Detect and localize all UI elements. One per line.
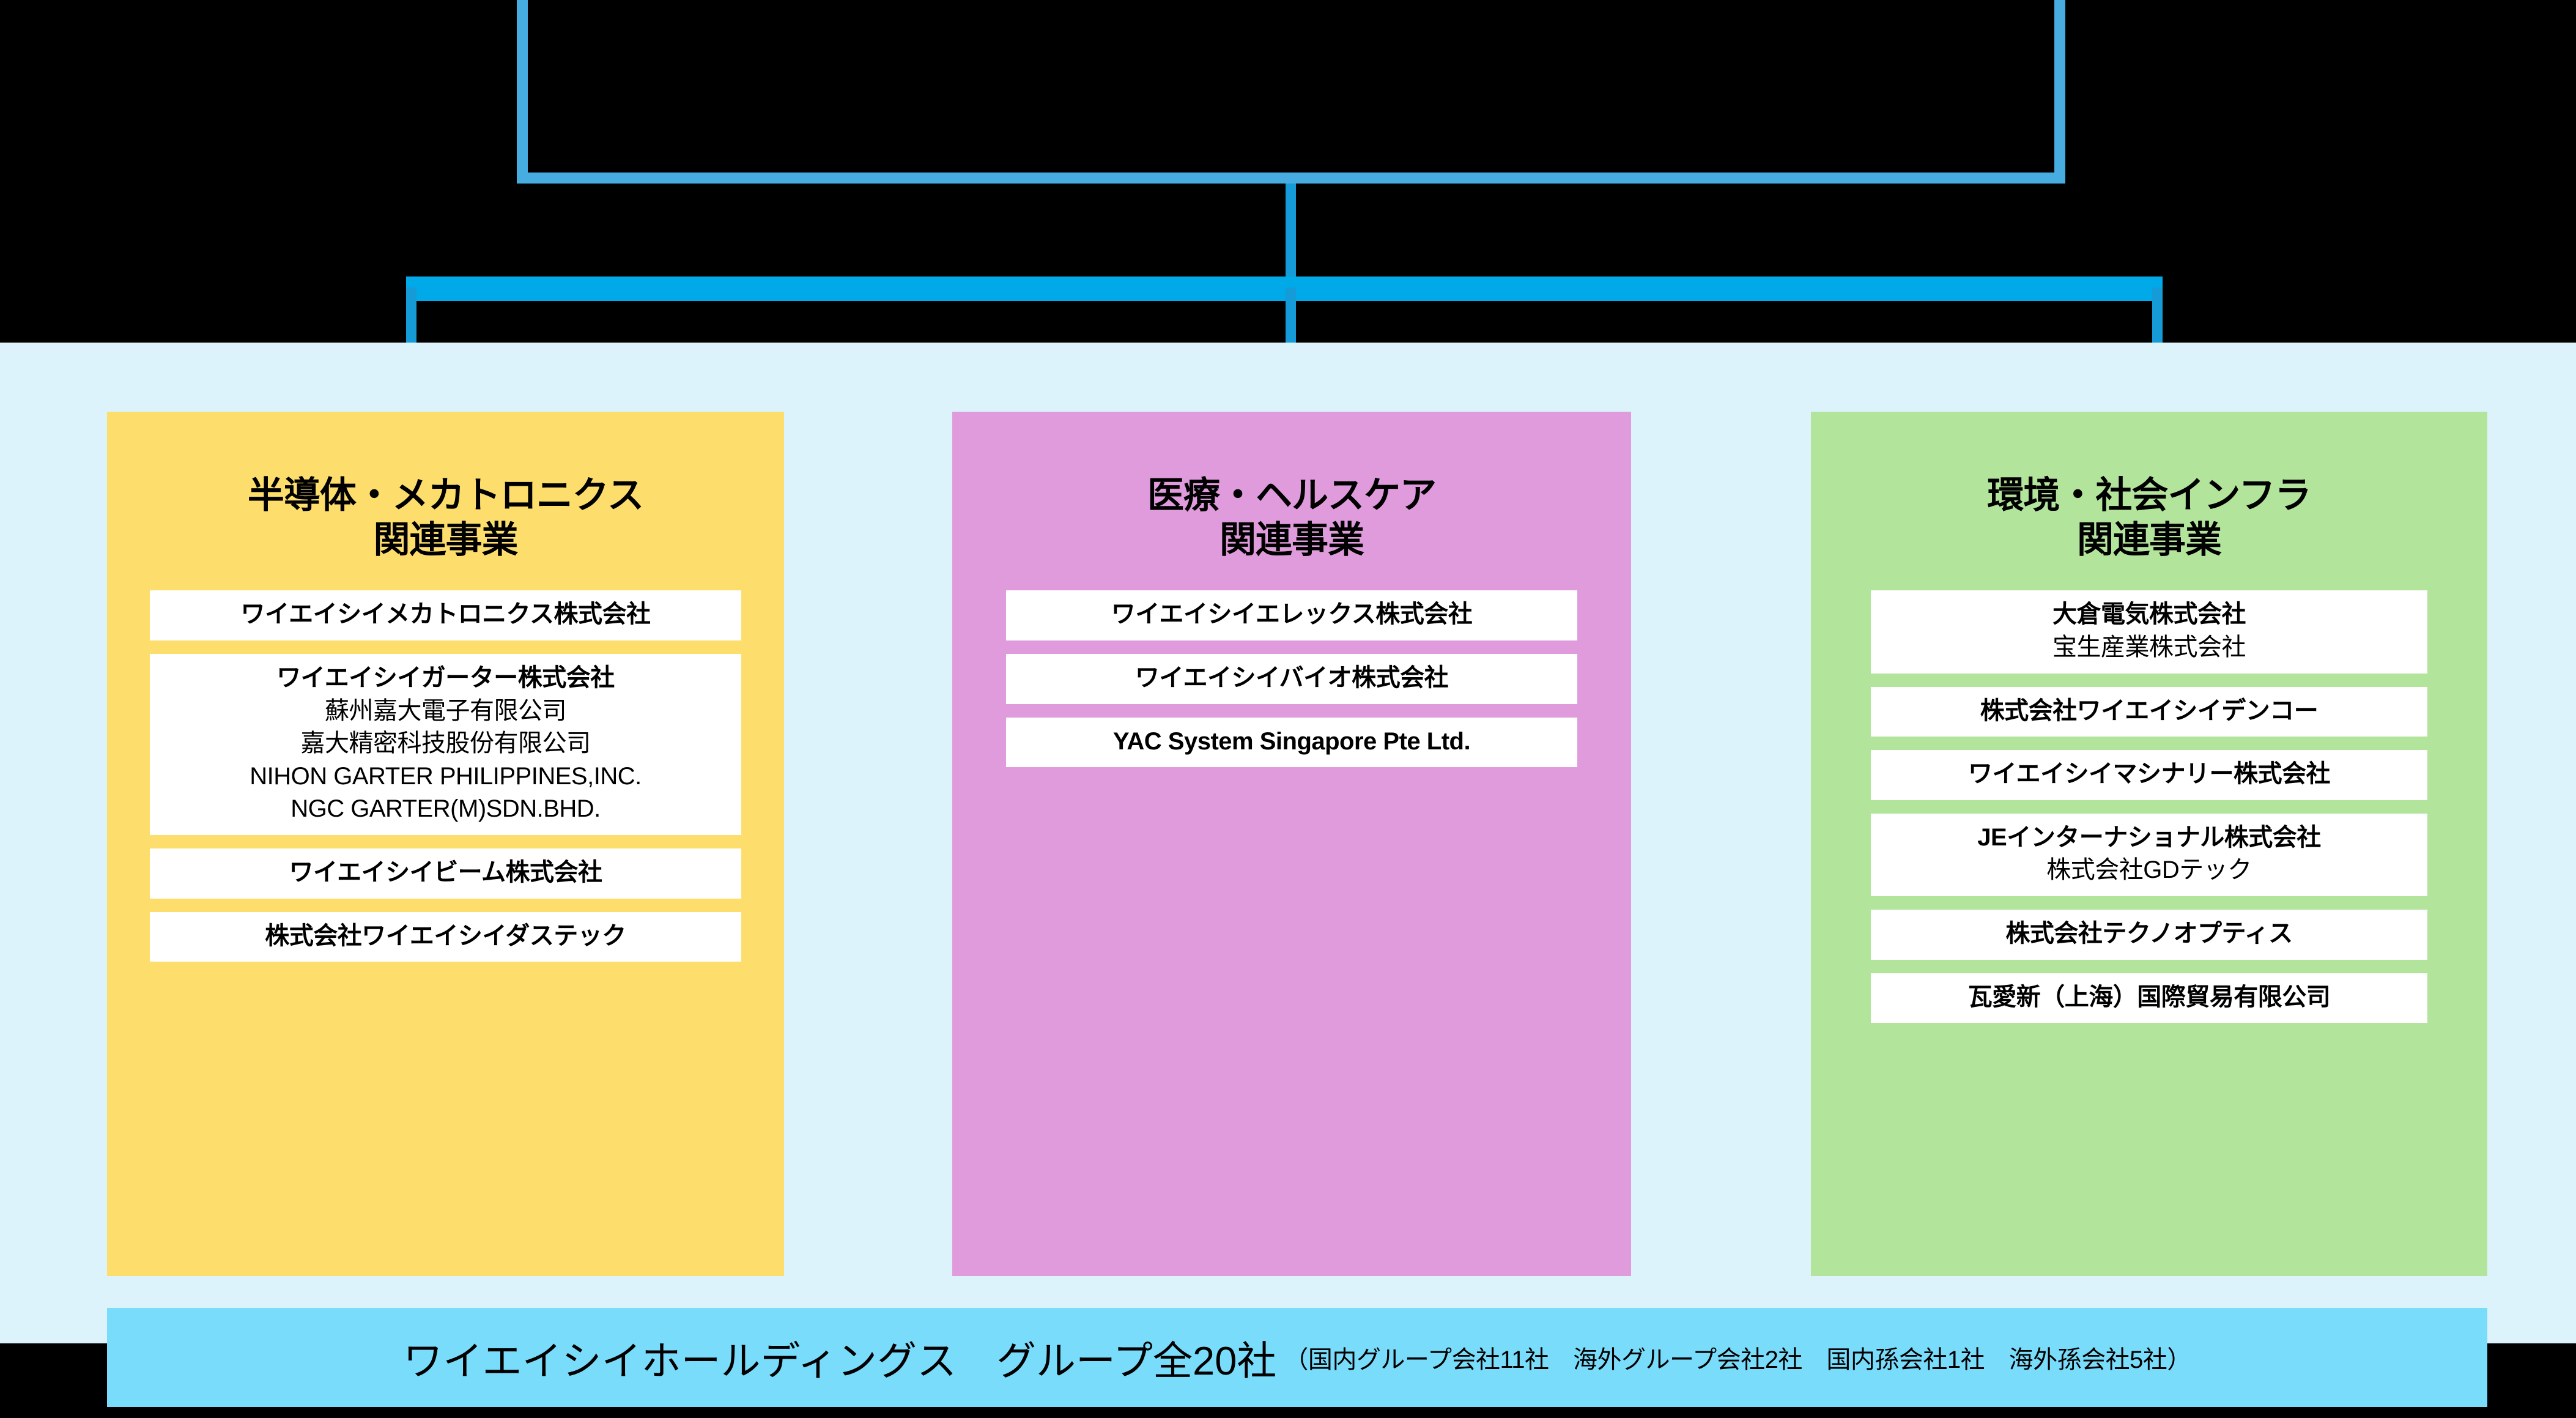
category-title-semiconductor: 半導体・メカトロニクス 関連事業 <box>107 412 784 562</box>
connector-horizontal-bar <box>406 277 2163 301</box>
company-list-semiconductor: ワイエイシイメカトロニクス株式会社ワイエイシイガーター株式会社蘇州嘉大電子有限公… <box>107 590 784 975</box>
category-title-environment: 環境・社会インフラ 関連事業 <box>1811 412 2487 562</box>
company-box[interactable]: ワイエイシイビーム株式会社 <box>150 848 741 899</box>
company-name-primary: 瓦愛新（上海）国際貿易有限公司 <box>1877 981 2421 1014</box>
company-name-primary: 株式会社テクノオプティス <box>1877 918 2421 951</box>
company-box[interactable]: 株式会社ワイエイシイダステック <box>150 912 741 962</box>
company-list-environment: 大倉電気株式会社宝生産業株式会社株式会社ワイエイシイデンコーワイエイシイマシナリ… <box>1811 590 2487 1036</box>
company-name-primary: 大倉電気株式会社 <box>1877 598 2421 631</box>
top-parent-box <box>517 0 2065 184</box>
company-name-subsidiary: 宝生産業株式会社 <box>1877 631 2421 664</box>
company-box[interactable]: ワイエイシイメカトロニクス株式会社 <box>150 590 741 640</box>
category-title-medical: 医療・ヘルスケア 関連事業 <box>952 412 1631 562</box>
company-name-primary: JEインターナショナル株式会社 <box>1877 822 2421 855</box>
company-name-primary: ワイエイシイメカトロニクス株式会社 <box>156 598 735 631</box>
company-name-primary: ワイエイシイマシナリー株式会社 <box>1877 758 2421 791</box>
company-name-primary: 株式会社ワイエイシイダステック <box>156 920 735 953</box>
company-name-subsidiary: NIHON GARTER PHILIPPINES,INC. <box>156 760 735 793</box>
group-summary-main-text: ワイエイシイホールディングス グループ全20社 <box>403 1329 1276 1386</box>
company-box[interactable]: 株式会社ワイエイシイデンコー <box>1871 687 2427 737</box>
company-box[interactable]: ワイエイシイマシナリー株式会社 <box>1871 750 2427 800</box>
category-column-environment: 環境・社会インフラ 関連事業 大倉電気株式会社宝生産業株式会社株式会社ワイエイシ… <box>1811 412 2487 1276</box>
company-name-primary: ワイエイシイエレックス株式会社 <box>1012 598 1571 631</box>
category-column-semiconductor: 半導体・メカトロニクス 関連事業 ワイエイシイメカトロニクス株式会社ワイエイシイ… <box>107 412 784 1276</box>
company-name-subsidiary: 嘉大精密科技股份有限公司 <box>156 727 735 760</box>
company-name-subsidiary: NGC GARTER(M)SDN.BHD. <box>156 793 735 826</box>
company-box[interactable]: ワイエイシイエレックス株式会社 <box>1006 590 1577 640</box>
company-name-primary: ワイエイシイビーム株式会社 <box>156 856 735 889</box>
company-name-subsidiary: 蘇州嘉大電子有限公司 <box>156 695 735 728</box>
company-box[interactable]: JEインターナショナル株式会社株式会社GDテック <box>1871 814 2427 896</box>
chart-stage: 半導体・メカトロニクス 関連事業 ワイエイシイメカトロニクス株式会社ワイエイシイ… <box>0 343 2576 1343</box>
company-name-primary: ワイエイシイバイオ株式会社 <box>1012 662 1571 695</box>
company-name-subsidiary: 株式会社GDテック <box>1877 854 2421 887</box>
category-column-medical: 医療・ヘルスケア 関連事業 ワイエイシイエレックス株式会社ワイエイシイバイオ株式… <box>952 412 1631 1276</box>
company-box[interactable]: 大倉電気株式会社宝生産業株式会社 <box>1871 590 2427 673</box>
company-box[interactable]: 瓦愛新（上海）国際貿易有限公司 <box>1871 973 2427 1023</box>
company-box[interactable]: 株式会社テクノオプティス <box>1871 910 2427 960</box>
group-summary-banner: ワイエイシイホールディングス グループ全20社 （国内グループ会社11社 海外グ… <box>107 1308 2487 1407</box>
company-name-primary: 株式会社ワイエイシイデンコー <box>1877 695 2421 728</box>
company-box[interactable]: YAC System Singapore Pte Ltd. <box>1006 718 1577 768</box>
group-summary-detail-text: （国内グループ会社11社 海外グループ会社2社 国内孫会社1社 海外孫会社5社） <box>1284 1340 2191 1375</box>
connector-stem-vertical <box>1286 184 1296 289</box>
company-box[interactable]: ワイエイシイバイオ株式会社 <box>1006 654 1577 704</box>
company-list-medical: ワイエイシイエレックス株式会社ワイエイシイバイオ株式会社YAC System S… <box>952 590 1631 781</box>
company-box[interactable]: ワイエイシイガーター株式会社蘇州嘉大電子有限公司嘉大精密科技股份有限公司NIHO… <box>150 654 741 835</box>
company-name-primary: ワイエイシイガーター株式会社 <box>156 662 735 695</box>
company-name-primary: YAC System Singapore Pte Ltd. <box>1012 726 1571 759</box>
